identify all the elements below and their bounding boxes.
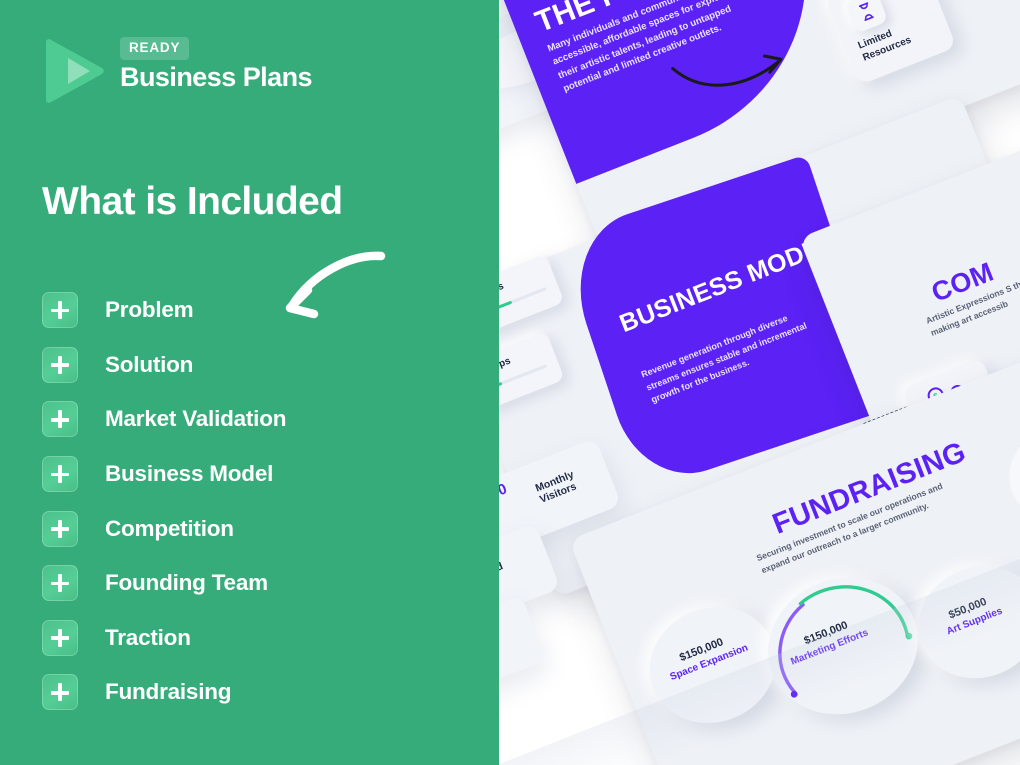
list-item[interactable]: Traction bbox=[42, 611, 462, 666]
plus-icon[interactable] bbox=[42, 347, 78, 383]
feature-label: Traction bbox=[105, 625, 191, 651]
ready-badge: READY bbox=[120, 37, 189, 60]
bm-bar-track bbox=[499, 287, 547, 339]
list-item[interactable]: Competition bbox=[42, 501, 462, 556]
feature-label: Market Validation bbox=[105, 406, 286, 432]
edge-card-extra bbox=[499, 595, 547, 715]
fundraising-ghost-ring bbox=[995, 407, 1020, 537]
bm-bar-card-workshops[interactable]: ion Workshops bbox=[499, 331, 565, 438]
hourglass-icon-chip bbox=[844, 0, 888, 34]
list-item[interactable]: Fundraising bbox=[42, 665, 462, 720]
list-item[interactable]: Market Validation bbox=[42, 392, 462, 447]
left-green-panel: READY Business Plans What is Included Pr… bbox=[0, 0, 499, 765]
list-item[interactable]: Founding Team bbox=[42, 556, 462, 611]
list-item[interactable]: Problem bbox=[42, 283, 462, 338]
plus-icon[interactable] bbox=[42, 565, 78, 601]
feature-label: Founding Team bbox=[105, 570, 268, 596]
feature-label: Problem bbox=[105, 297, 193, 323]
problem-card-limited-resources[interactable]: Limited Resources bbox=[825, 0, 957, 85]
feature-label: Competition bbox=[105, 516, 234, 542]
brand-block: READY Business Plans bbox=[44, 36, 374, 106]
feature-label: Solution bbox=[105, 352, 193, 378]
plus-icon[interactable] bbox=[42, 674, 78, 710]
bm-bar-label: Drop-in Fees bbox=[499, 281, 505, 314]
list-item[interactable]: Solution bbox=[42, 338, 462, 393]
feature-list: Problem Solution Market Validation Busin… bbox=[42, 283, 462, 720]
plus-icon[interactable] bbox=[42, 401, 78, 437]
plus-icon[interactable] bbox=[42, 292, 78, 328]
bm-bar-track bbox=[499, 364, 547, 416]
slide-showcase-panel: THE PROBLEM Many individuals and communi… bbox=[499, 0, 1020, 765]
presentation-promo-screenshot: THE PROBLEM Many individuals and communi… bbox=[0, 0, 1020, 765]
plus-icon[interactable] bbox=[42, 511, 78, 547]
edge-label-metric: 00 bbox=[499, 480, 509, 502]
edge-label-monthly-visitors: Monthly Visitors bbox=[534, 456, 612, 505]
plus-icon[interactable] bbox=[42, 456, 78, 492]
bm-bar-label: ion Workshops bbox=[499, 355, 512, 392]
edge-label-field: ield bbox=[499, 560, 505, 578]
feature-label: Fundraising bbox=[105, 679, 231, 705]
list-item[interactable]: Business Model bbox=[42, 447, 462, 502]
plus-icon[interactable] bbox=[42, 620, 78, 656]
bm-bar-fill bbox=[499, 382, 502, 416]
feature-label: Business Model bbox=[105, 461, 273, 487]
play-triangle-icon bbox=[44, 38, 106, 104]
hourglass-icon bbox=[853, 0, 879, 25]
brand-title: Business Plans bbox=[120, 63, 312, 93]
page-title: What is Included bbox=[42, 182, 343, 221]
bm-bar-fill bbox=[499, 301, 512, 339]
